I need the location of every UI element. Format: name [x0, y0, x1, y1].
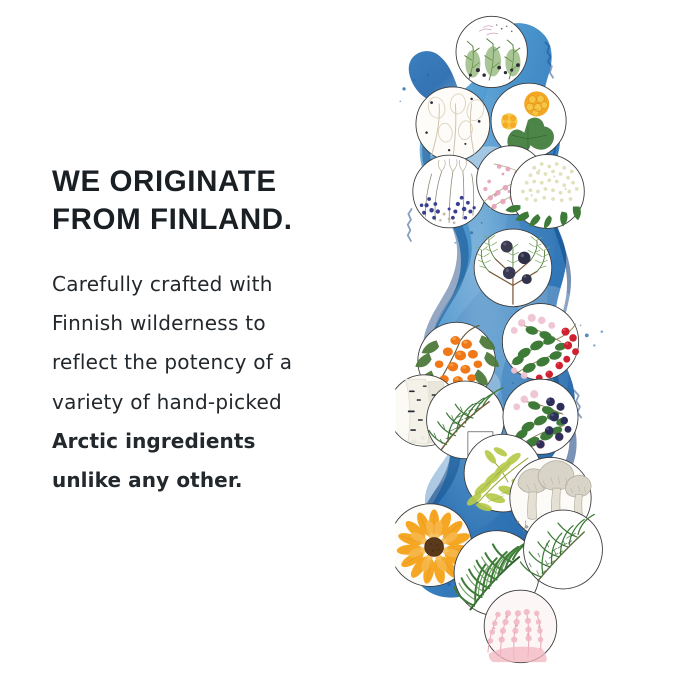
- headline-line-1: WE ORIGINATE: [52, 163, 352, 201]
- body-copy: Carefully crafted with Finnish wildernes…: [52, 265, 352, 501]
- ingredient-circle-lingonberry-sprigs: [416, 87, 490, 161]
- cloudberry-fruit: [524, 91, 549, 116]
- body-line-3: reflect the potency of a: [52, 343, 352, 382]
- ingredient-circle-juniper: [474, 229, 552, 307]
- poster-canvas: WE ORIGINATE FROM FINLAND. Carefully cra…: [0, 0, 679, 679]
- body-line-4: variety of hand-picked: [52, 383, 352, 422]
- page-title: WE ORIGINATE FROM FINLAND.: [52, 163, 352, 239]
- body-line-1: Carefully crafted with: [52, 265, 352, 304]
- headline-line-2: FROM FINLAND.: [52, 201, 352, 239]
- watercolour-map-of-finland: [330, 10, 679, 679]
- body-line-6: unlike any other.: [52, 461, 352, 500]
- ingredient-circle-oat-grains: [413, 155, 486, 228]
- text-block: WE ORIGINATE FROM FINLAND. Carefully cra…: [52, 163, 352, 501]
- ingredient-circle-crowberry-heather: [456, 16, 527, 87]
- ingredient-circle-pink-heather: [484, 590, 557, 663]
- body-line-2: Finnish wilderness to: [52, 304, 352, 343]
- cloudberry-flower: [501, 113, 517, 129]
- body-line-5: Arctic ingredients: [52, 422, 352, 461]
- map-svg: [330, 10, 679, 679]
